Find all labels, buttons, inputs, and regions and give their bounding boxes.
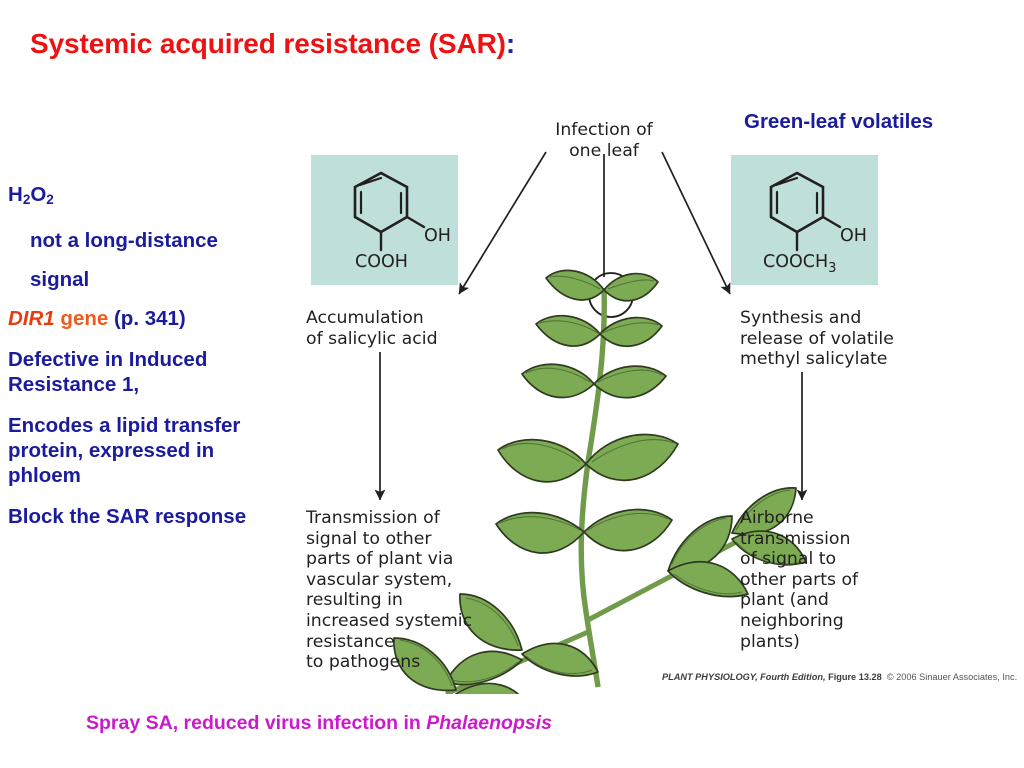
figure-label-airborne-transmission: Airborne transmission of signal to other… <box>740 508 890 652</box>
methyl-salicylate-svg: OH COOCH3 <box>731 155 878 285</box>
leaf <box>522 644 598 676</box>
note-defective-in-induced-resistance: Defective in Induced Resistance 1, <box>8 347 286 397</box>
benzene-ring <box>771 173 823 232</box>
substituent-bonds <box>797 217 840 250</box>
leaf <box>496 513 584 553</box>
label-cooch3: COOCH3 <box>763 252 836 276</box>
slide-canvas: Systemic acquired resistance (SAR): H2O2… <box>0 0 1024 768</box>
leaf <box>536 316 600 346</box>
label-oh: OH <box>840 226 867 246</box>
note-h2o2-h: H <box>8 183 23 206</box>
page-title-colon: : <box>506 28 515 59</box>
note-not-long-distance: not a long-distance <box>8 228 286 253</box>
label-oh: OH <box>424 226 451 246</box>
benzene-double-bonds <box>776 178 817 213</box>
annotation-spray-sa: Spray SA, reduced virus infection in Pha… <box>86 712 552 735</box>
annotation-spray-sa-text: Spray SA, reduced virus infection in <box>86 712 426 734</box>
notes-column: H2O2 not a long-distance signal DIR1 gen… <box>8 182 286 545</box>
gene-page-ref: (p. 341) <box>114 307 186 330</box>
benzene-double-bonds <box>360 178 401 213</box>
chemical-structure-salicylic-acid: OH COOH <box>311 155 458 285</box>
leaf <box>546 270 604 300</box>
benzene-ring <box>355 173 407 232</box>
note-dir1-gene: DIR1 gene (p. 341) <box>8 306 286 331</box>
figure-credit-book: PLANT PHYSIOLOGY, Fourth Edition, <box>662 672 826 682</box>
page-title-text: Systemic acquired resistance (SAR) <box>30 28 506 59</box>
note-h2o2: H2O2 <box>8 182 286 212</box>
annotation-species-name: Phalaenopsis <box>426 712 552 734</box>
gene-symbol: DIR1 <box>8 307 55 330</box>
figure-credit-copyright: © 2006 Sinauer Associates, Inc. <box>887 672 1017 682</box>
arrow-to-accumulation <box>459 152 546 294</box>
label-cooch3-main: COOCH <box>763 252 828 272</box>
figure-13-28: OH COOH OH COOCH3 <box>296 112 1012 694</box>
salicylic-acid-svg: OH COOH <box>311 155 458 285</box>
gene-word-label: gene <box>60 307 108 330</box>
note-h2o2-o: O <box>30 183 46 206</box>
page-title: Systemic acquired resistance (SAR): <box>30 28 515 60</box>
note-h2o2-sub2: 2 <box>46 192 54 207</box>
figure-label-infection-of-one-leaf: Infection of one leaf <box>529 120 679 161</box>
figure-credit-number: Figure 13.28 <box>828 672 882 682</box>
leaf <box>600 318 662 347</box>
arrow-to-synthesis <box>662 152 730 294</box>
chemical-structure-methyl-salicylate: OH COOCH3 <box>731 155 878 285</box>
label-cooh: COOH <box>355 252 408 272</box>
figure-credit: PLANT PHYSIOLOGY, Fourth Edition, Figure… <box>662 672 1017 682</box>
label-cooch3-sub: 3 <box>828 261 836 276</box>
plant-main-stem <box>581 288 604 687</box>
figure-label-transmission-of-signal: Transmission of signal to other parts of… <box>306 508 496 673</box>
substituent-bonds <box>381 217 424 250</box>
figure-label-accumulation-of-salicylic-acid: Accumulation of salicylic acid <box>306 308 486 349</box>
note-signal: signal <box>8 267 286 292</box>
note-encodes-lipid-transfer-protein: Encodes a lipid transfer protein, expres… <box>8 413 286 488</box>
note-block-sar-response: Block the SAR response <box>8 504 286 529</box>
figure-label-synthesis-and-release: Synthesis and release of volatile methyl… <box>740 308 930 370</box>
